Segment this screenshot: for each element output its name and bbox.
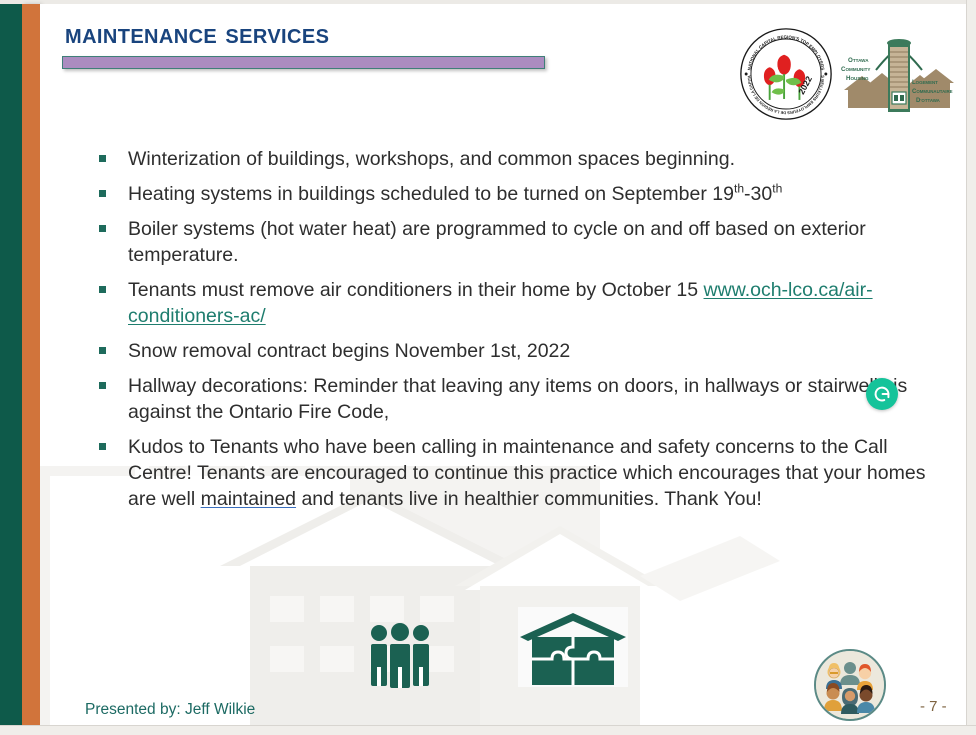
bullet-text-cont: -30	[744, 183, 772, 205]
page-title: Maintenance Services	[65, 18, 329, 50]
list-item: Boiler systems (hot water heat) are prog…	[95, 216, 940, 268]
list-item: Kudos to Tenants who have been calling i…	[95, 434, 940, 512]
list-item: Snow removal contract begins November 1s…	[95, 338, 940, 364]
ordinal-suffix: th	[772, 182, 782, 196]
bullet-square-icon	[99, 190, 106, 197]
bullet-list: Winterization of buildings, workshops, a…	[95, 146, 940, 521]
list-item: Heating systems in buildings scheduled t…	[95, 181, 940, 207]
spellcheck-flagged-word[interactable]: maintained	[201, 488, 296, 510]
och-logo-icon: OTTAWA COMMUNITY HOUSING LOGEMENT COMMUN…	[840, 28, 958, 120]
bullet-text: Snow removal contract begins November 1s…	[128, 340, 570, 362]
bullet-text-cont: and tenants live in healthier communitie…	[296, 488, 762, 510]
left-accent-bar-orange	[22, 4, 40, 726]
bullet-square-icon	[99, 286, 106, 293]
grammarly-g-icon	[871, 383, 893, 405]
window-right-strip	[966, 0, 976, 735]
bullet-text: Heating systems in buildings scheduled t…	[128, 183, 734, 205]
diverse-community-illustration	[814, 649, 886, 721]
puzzle-house-icon	[518, 607, 628, 687]
list-item: Winterization of buildings, workshops, a…	[95, 146, 940, 172]
people-illustration-icon	[816, 651, 884, 719]
svg-text:OTTAWA: OTTAWA	[848, 57, 869, 64]
page-number: - 7 -	[920, 698, 947, 715]
bullet-square-icon	[99, 347, 106, 354]
svg-text:HOUSING: HOUSING	[846, 75, 869, 82]
svg-text:COMMUNITY: COMMUNITY	[841, 66, 870, 73]
presenter-label: Presented by: Jeff Wilkie	[85, 701, 255, 719]
bullet-text: Tenants must remove air conditioners in …	[128, 279, 704, 301]
bullet-square-icon	[99, 443, 106, 450]
bullet-text: Boiler systems (hot water heat) are prog…	[128, 218, 866, 266]
logo-group: NATIONAL CAPITAL REGION'S TOP EMPLOYERS …	[738, 26, 958, 122]
grammarly-button[interactable]	[866, 378, 898, 410]
slide-canvas: Maintenance Services NATIONAL CAPITAL RE…	[40, 4, 967, 726]
three-people-icon	[364, 619, 436, 691]
title-underline-bar	[62, 56, 545, 69]
ordinal-suffix: th	[734, 182, 744, 196]
bullet-text: Hallway decorations: Reminder that leavi…	[128, 375, 907, 423]
bullet-square-icon	[99, 225, 106, 232]
bullet-square-icon	[99, 155, 106, 162]
top-employers-badge-icon: NATIONAL CAPITAL REGION'S TOP EMPLOYERS …	[738, 26, 834, 122]
list-item: Tenants must remove air conditioners in …	[95, 277, 940, 329]
bullet-text: Winterization of buildings, workshops, a…	[128, 148, 735, 170]
presentation-slide: Maintenance Services NATIONAL CAPITAL RE…	[0, 0, 976, 735]
left-accent-bar-green	[0, 4, 22, 726]
window-bottom-strip	[0, 725, 976, 735]
list-item: Hallway decorations: Reminder that leavi…	[95, 373, 940, 425]
bullet-square-icon	[99, 382, 106, 389]
